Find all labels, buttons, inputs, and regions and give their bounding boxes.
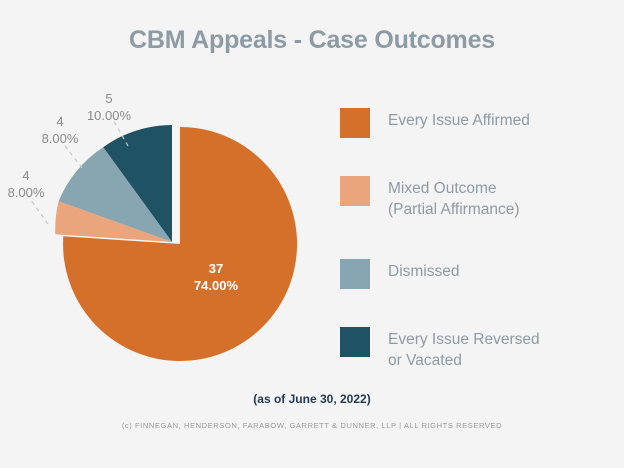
leader-line-mixed — [28, 196, 48, 224]
pie-chart-figure: CBM Appeals - Case Outcomes 37 74.00% 5 … — [0, 0, 624, 468]
legend-item-every-issue-reversed[interactable]: Every Issue Reversed or Vacated — [340, 327, 610, 372]
slice-label-affirmed-percent: 74.00% — [194, 278, 239, 293]
slice-label-dismissed-value: 4 — [56, 114, 63, 129]
legend-item-label: Mixed Outcome (Partial Affirmance) — [388, 176, 520, 221]
slice-label-dismissed-percent: 8.00% — [42, 131, 79, 146]
legend-item-label: Every Issue Reversed or Vacated — [388, 327, 540, 372]
legend-item-label: Dismissed — [388, 259, 459, 283]
slice-label-reversed-value: 5 — [105, 91, 112, 106]
slice-label-mixed-value: 4 — [22, 168, 29, 183]
legend-item-every-issue-affirmed[interactable]: Every Issue Affirmed — [340, 108, 610, 138]
slice-label-reversed-percent: 10.00% — [87, 108, 132, 123]
slice-label-affirmed-value: 37 — [209, 261, 223, 276]
legend-swatch-icon — [340, 108, 370, 138]
page-title: CBM Appeals - Case Outcomes — [0, 26, 624, 55]
plot-area: 37 74.00% 5 10.00% 4 8.00% 4 8.00% — [0, 70, 330, 380]
legend-item-label: Every Issue Affirmed — [388, 108, 530, 132]
legend-swatch-icon — [340, 327, 370, 357]
pie-svg: 37 74.00% 5 10.00% 4 8.00% 4 8.00% — [0, 70, 330, 380]
as-of-date: (as of June 30, 2022) — [0, 392, 624, 406]
slice-label-mixed-percent: 8.00% — [8, 185, 45, 200]
legend: Every Issue Affirmed Mixed Outcome (Part… — [340, 108, 610, 372]
legend-item-mixed-outcome[interactable]: Mixed Outcome (Partial Affirmance) — [340, 176, 610, 221]
legend-swatch-icon — [340, 259, 370, 289]
copyright-notice: (c) FINNEGAN, HENDERSON, FARABOW, GARRET… — [0, 421, 624, 430]
legend-item-dismissed[interactable]: Dismissed — [340, 259, 610, 289]
legend-swatch-icon — [340, 176, 370, 206]
